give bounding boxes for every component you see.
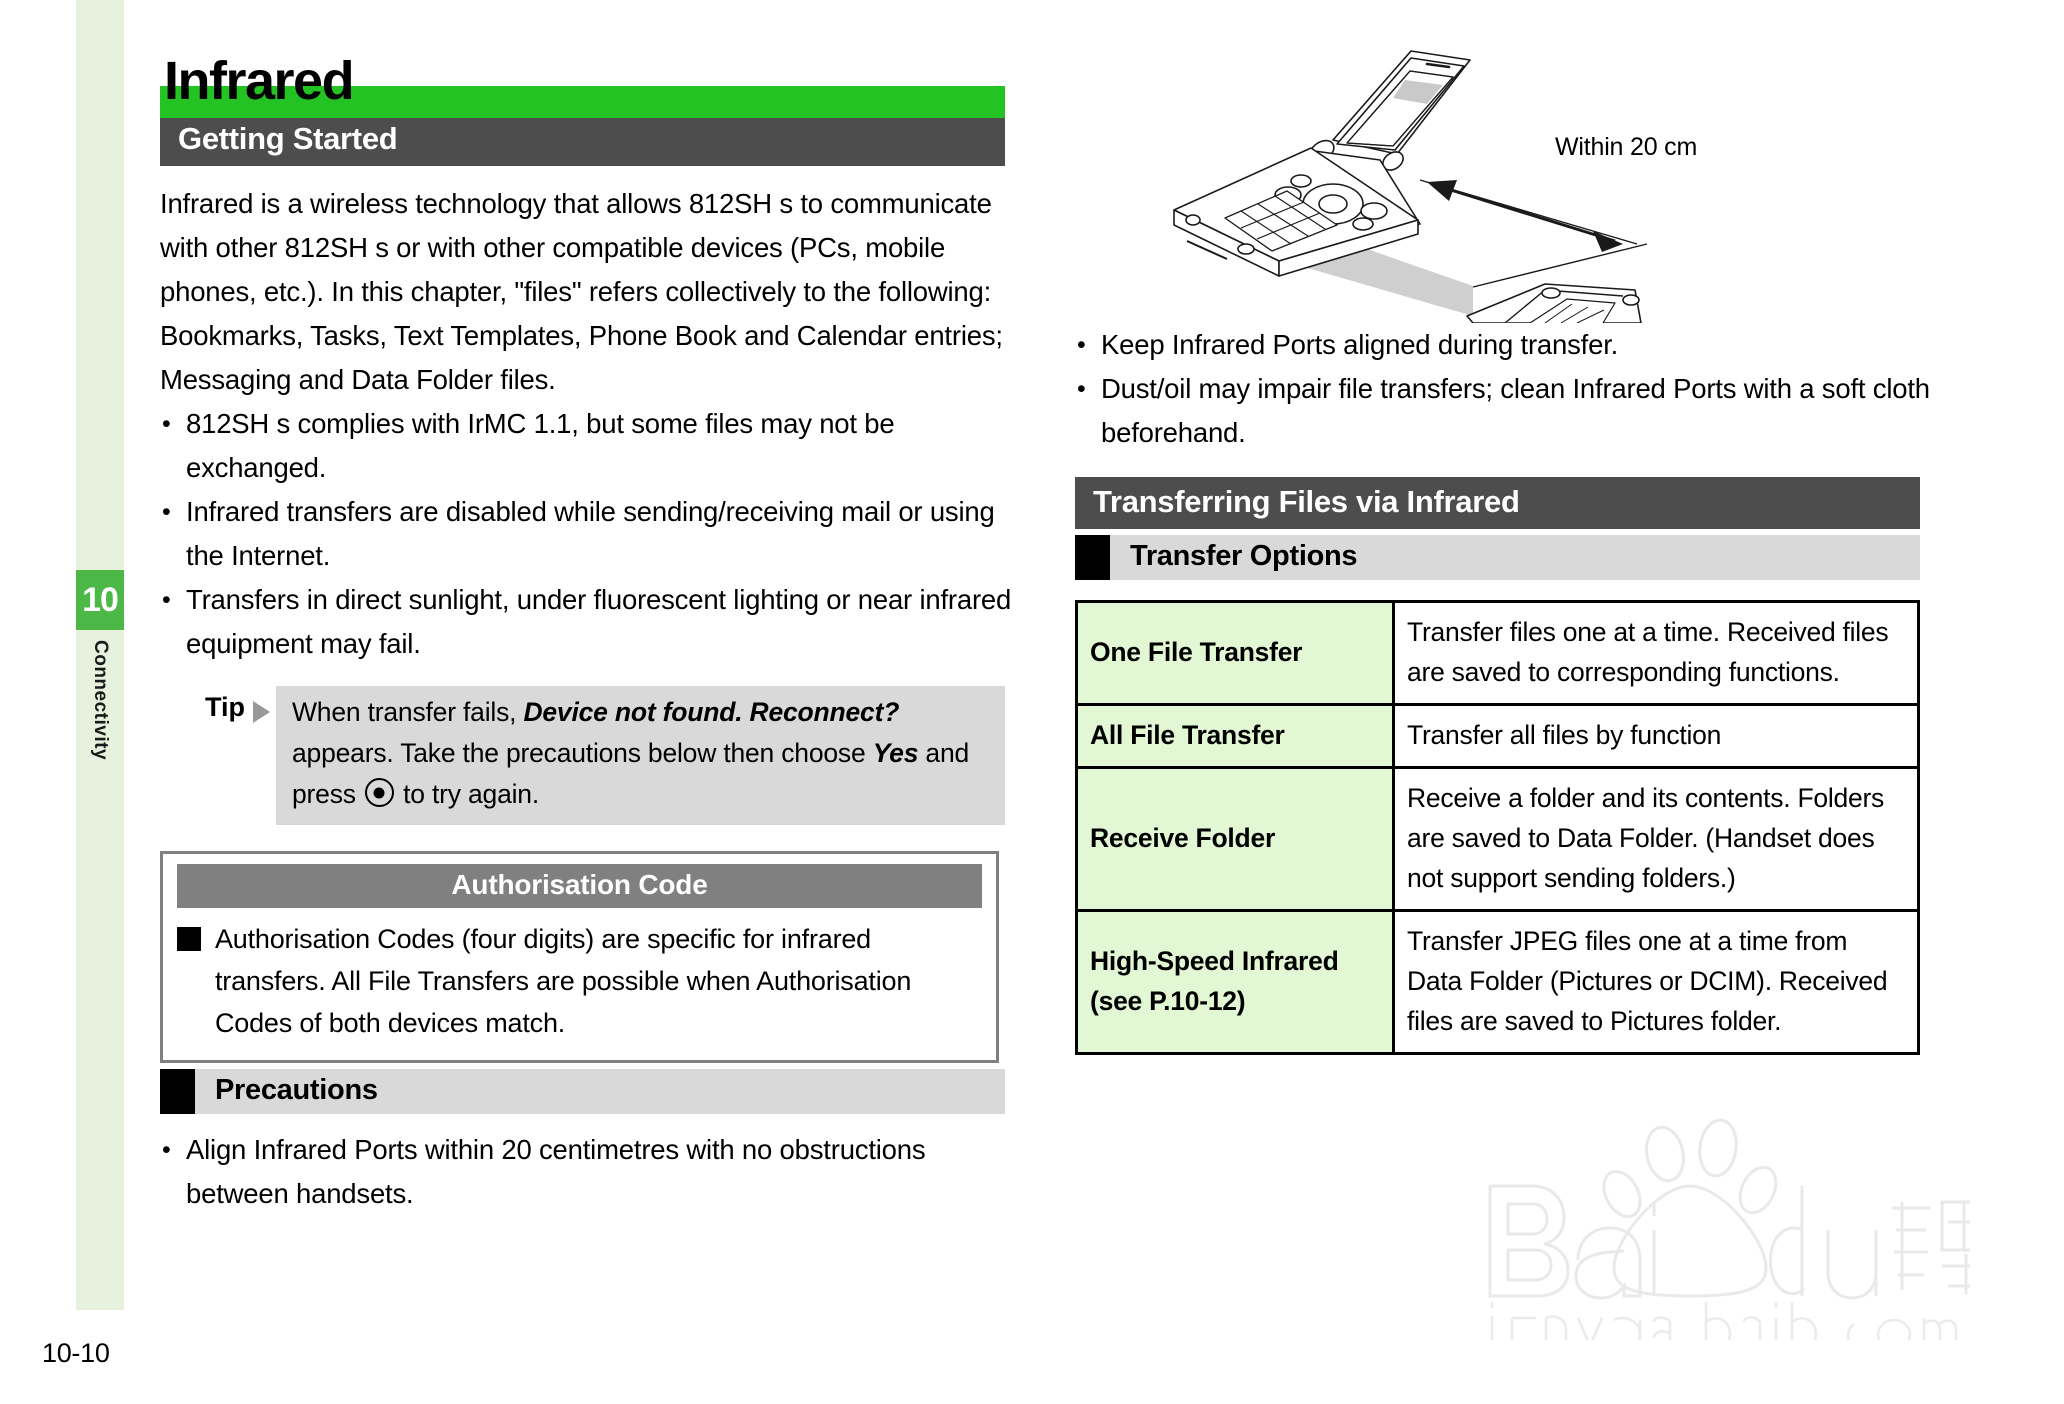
authorisation-code-box: Authorisation Code Authorisation Codes (… (160, 851, 999, 1063)
table-cell-option-description: Receive a folder and its contents. Folde… (1394, 768, 1919, 911)
section-heading-transferring-files: Transferring Files via Infrared (1075, 477, 1920, 529)
baidu-watermark (1450, 1090, 1970, 1340)
tip-label: Tip (160, 686, 276, 825)
subsection-transfer-options: Transfer Options (1075, 535, 1920, 580)
list-item: 812SH s complies with IrMC 1.1, but some… (160, 402, 1020, 490)
triangle-right-icon (253, 701, 270, 723)
baidu-logo-icon (1450, 1090, 1970, 1340)
black-square-bullet-icon (177, 927, 201, 951)
transfer-options-table: One File Transfer Transfer files one at … (1075, 600, 1920, 1055)
authorisation-code-body: Authorisation Codes (four digits) are sp… (177, 918, 982, 1044)
left-column: Infrared Getting Started Infrared is a w… (160, 28, 1020, 1216)
list-item: Keep Infrared Ports aligned during trans… (1075, 323, 1935, 367)
page-number: 10-10 (42, 1338, 110, 1369)
table-cell-option-description: Transfer all files by function (1394, 705, 1919, 768)
page-title-area: Infrared (160, 28, 1020, 114)
tip-emphasis-yes: Yes (873, 738, 919, 768)
list-item: Transfers in direct sunlight, under fluo… (160, 578, 1020, 666)
distance-label: Within 20 cm (1555, 133, 1697, 162)
list-item: Align Infrared Ports within 20 centimetr… (160, 1128, 1020, 1216)
table-row: High-Speed Infrared (see P.10-12) Transf… (1077, 911, 1919, 1054)
right-column: Within 20 cm Keep Infrared Ports aligned… (1075, 28, 1935, 1055)
getting-started-paragraph: Infrared is a wireless technology that a… (160, 182, 1020, 402)
chapter-label-text: Connectivity (89, 640, 111, 760)
tip-emphasis-message: Device not found. Reconnect? (523, 697, 899, 727)
black-square-icon (160, 1069, 195, 1114)
getting-started-bullet-list: 812SH s complies with IrMC 1.1, but some… (160, 402, 1020, 666)
table-cell-option-description: Transfer JPEG files one at a time from D… (1394, 911, 1919, 1054)
list-item: Infrared transfers are disabled while se… (160, 490, 1020, 578)
tip-label-text: Tip (205, 692, 245, 723)
table-cell-option-description: Transfer files one at a time. Received f… (1394, 602, 1919, 705)
center-key-icon (365, 778, 394, 807)
table-row: All File Transfer Transfer all files by … (1077, 705, 1919, 768)
subsection-transfer-options-label: Transfer Options (1110, 535, 1920, 580)
table-cell-option-name: One File Transfer (1077, 602, 1394, 705)
tip-text-4: to try again. (396, 779, 539, 809)
tip-text-1: When transfer fails, (292, 697, 523, 727)
page-title: Infrared (164, 54, 353, 108)
tip-text-2: appears. Take the precautions below then… (292, 738, 873, 768)
table-cell-option-name: High-Speed Infrared (see P.10-12) (1077, 911, 1394, 1054)
right-column-bullet-list: Keep Infrared Ports aligned during trans… (1075, 323, 1935, 455)
tip-block: Tip When transfer fails, Device not foun… (160, 686, 1005, 825)
section-heading-getting-started: Getting Started (160, 114, 1005, 166)
precautions-bullet-list: Align Infrared Ports within 20 centimetr… (160, 1128, 1020, 1216)
table-cell-option-name: All File Transfer (1077, 705, 1394, 768)
chapter-label: Connectivity (76, 640, 124, 940)
authorisation-code-text: Authorisation Codes (four digits) are sp… (215, 924, 911, 1038)
black-square-icon (1075, 535, 1110, 580)
chapter-number-badge: 10 (76, 570, 124, 630)
tip-body: When transfer fails, Device not found. R… (276, 686, 1005, 825)
subsection-precautions-label: Precautions (195, 1069, 1005, 1114)
authorisation-code-heading: Authorisation Code (177, 864, 982, 908)
table-cell-option-name: Receive Folder (1077, 768, 1394, 911)
table-row: One File Transfer Transfer files one at … (1077, 602, 1919, 705)
table-row: Receive Folder Receive a folder and its … (1077, 768, 1919, 911)
subsection-precautions: Precautions (160, 1069, 1005, 1114)
infrared-alignment-illustration: Within 20 cm (1075, 28, 1920, 323)
list-item: Dust/oil may impair file transfers; clea… (1075, 367, 1935, 455)
flip-phones-diagram-icon (1075, 28, 1920, 323)
